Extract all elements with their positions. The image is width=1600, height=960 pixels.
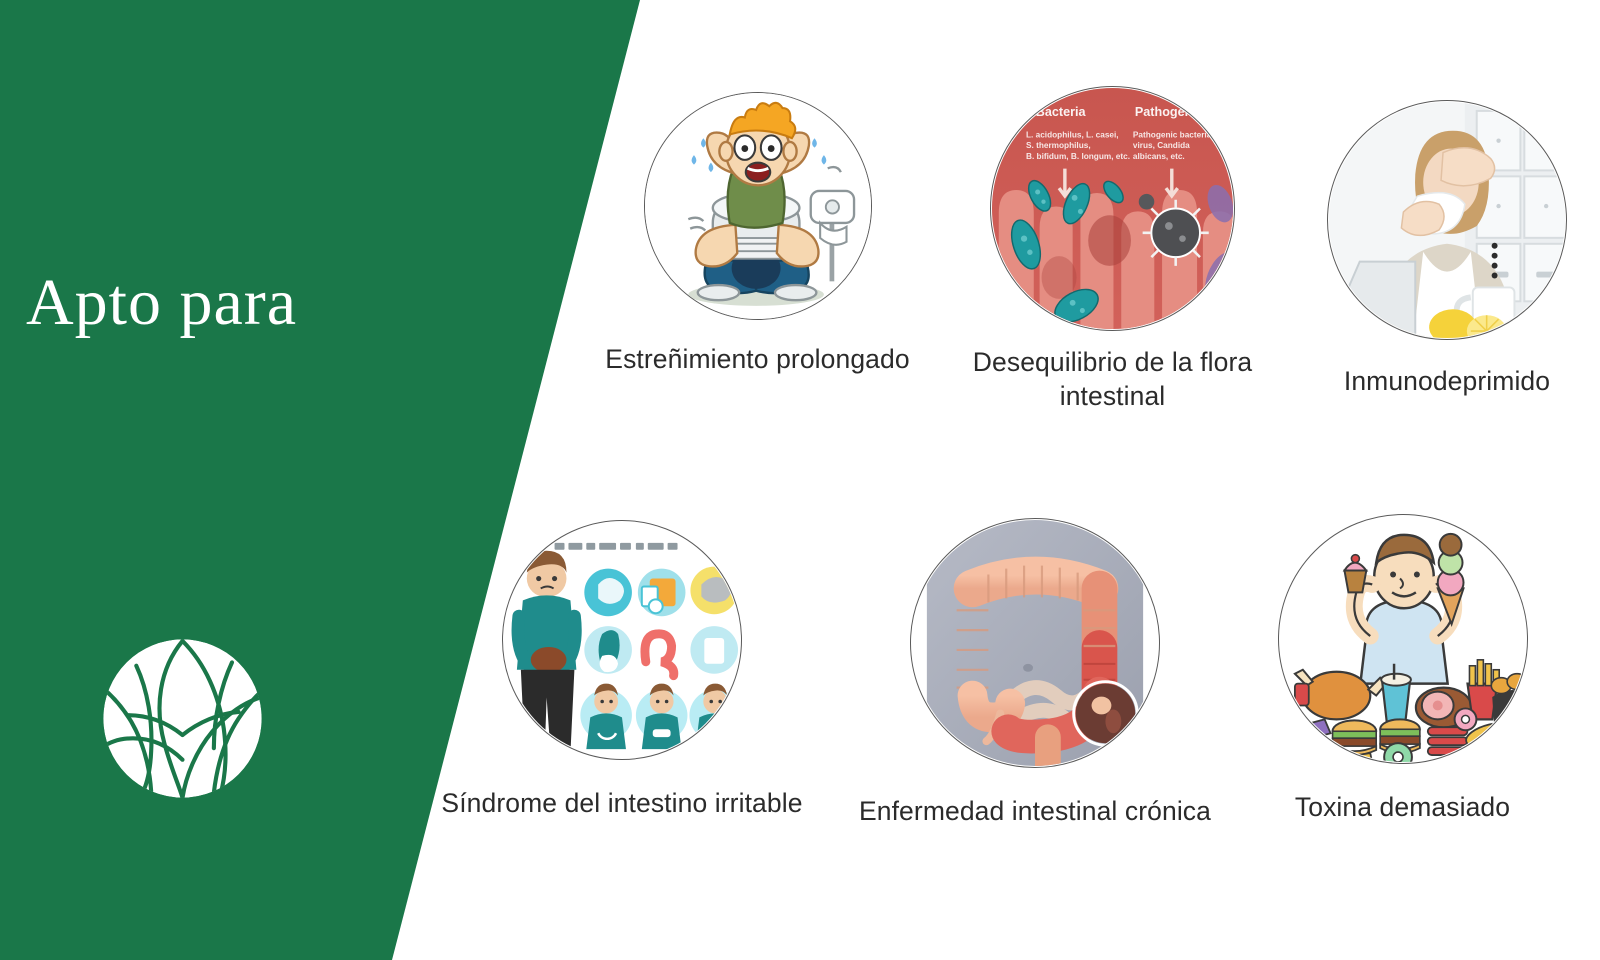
- svg-text:B. bifidum, B. longum, etc.: B. bifidum, B. longum, etc.: [1026, 152, 1130, 161]
- slide-root: Apto para: [0, 0, 1600, 960]
- overeating-junk-food-cartoon: [1278, 514, 1528, 764]
- condition-list: Estreñimiento prolongado: [0, 0, 1600, 960]
- list-item-label: Síndrome del intestino irritable: [412, 786, 832, 820]
- svg-text:Pathogenic bacteria,: Pathogenic bacteria,: [1133, 131, 1214, 140]
- list-item-label: Estreñimiento prolongado: [575, 342, 940, 376]
- list-item-label: Desequilibrio de la flora intestinal: [935, 345, 1290, 414]
- list-item-label: Toxina demasiado: [1230, 790, 1575, 824]
- colon-inflammation-anatomy-illustration: [910, 518, 1160, 768]
- svg-text:L. acidophilus, L. casei,: L. acidophilus, L. casei,: [1026, 131, 1119, 140]
- constipated-person-on-toilet-illustration: [644, 92, 872, 320]
- list-item: Inmunodeprimido: [1297, 100, 1597, 398]
- svg-text:S. thermophilus,: S. thermophilus,: [1026, 141, 1091, 150]
- irritable-bowel-syndrome-infographic: [502, 520, 742, 760]
- list-item: Toxina demasiado: [1230, 514, 1575, 824]
- svg-text:virus, Candida: virus, Candida: [1133, 141, 1190, 150]
- list-item: Enfermedad intestinal crónica: [840, 518, 1230, 828]
- sick-woman-at-desk-photo: [1327, 100, 1567, 340]
- svg-text:Bacteria: Bacteria: [1036, 105, 1087, 119]
- svg-text:Pathogens: Pathogens: [1135, 105, 1200, 119]
- list-item: Bacteria Pathogens L. acidophilus, L. ca…: [935, 86, 1290, 414]
- list-item: Estreñimiento prolongado: [575, 92, 940, 376]
- list-item: Síndrome del intestino irritable: [412, 520, 832, 820]
- svg-text:albicans, etc.: albicans, etc.: [1133, 152, 1185, 161]
- gut-flora-bacteria-villi-illustration: Bacteria Pathogens L. acidophilus, L. ca…: [990, 86, 1235, 331]
- list-item-label: Enfermedad intestinal crónica: [840, 794, 1230, 828]
- list-item-label: Inmunodeprimido: [1297, 364, 1597, 398]
